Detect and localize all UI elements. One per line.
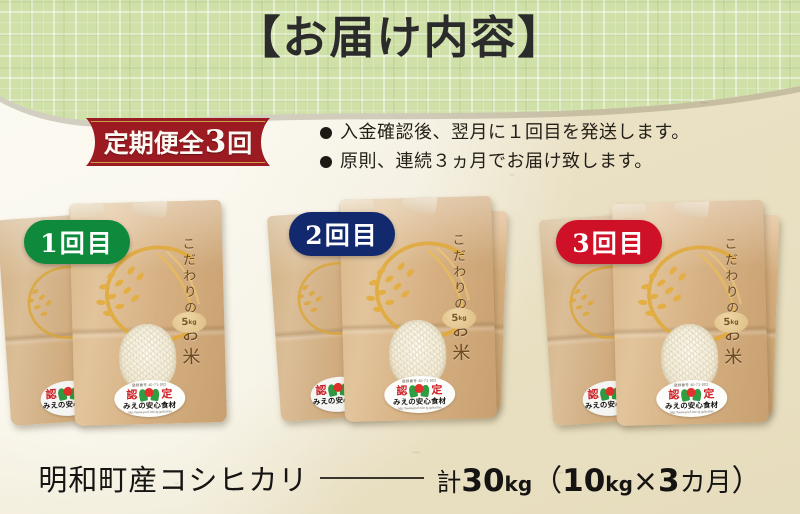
- note-text: 原則、連続３ヵ月でお届け致します。: [340, 147, 653, 176]
- note-text: 入金確認後、翌月に１回目を発送します。: [340, 118, 690, 147]
- note-item: 入金確認後、翌月に１回目を発送します。: [320, 118, 740, 147]
- bullet-dot-icon: [320, 156, 332, 168]
- note-item: 原則、連続３ヵ月でお届け致します。: [320, 147, 740, 176]
- seal-kanji-left: 認: [587, 389, 599, 401]
- subscription-ribbon-badge: 定期便全3回: [86, 118, 270, 166]
- bag-brand-text: こだわりの お米: [715, 236, 744, 370]
- caption-divider: [320, 477, 424, 479]
- per-shipment-unit: kg: [605, 472, 633, 496]
- total-value: 30: [461, 463, 504, 499]
- total-amount-text: 計30kg（10kg×3カ月）: [436, 456, 761, 500]
- seal-url: http://www.pref.mie.lg.jp/anshin: [398, 405, 442, 410]
- certification-seal: 登録番号 40-71-002 認 定 みえの安心食材 http://www.pr…: [113, 379, 185, 419]
- weight-unit: kg: [188, 319, 196, 326]
- certification-seal: 登録番号 40-71-002 認 定 みえの安心食材 http://www.pr…: [655, 379, 727, 419]
- seal-kanji-left: 認: [45, 389, 57, 401]
- weight-unit: kg: [458, 315, 466, 322]
- delivery-badge-2: 2回目: [289, 212, 395, 256]
- page-title: 【お届け内容】: [0, 10, 800, 66]
- seal-middle-row: 認 定: [668, 387, 714, 401]
- bullet-dot-icon: [320, 127, 332, 139]
- seal-middle-row: 認 定: [126, 387, 172, 401]
- delivery-badge-1: 1回目: [24, 220, 130, 264]
- bag-brand-text: こだわりの お米: [173, 236, 202, 370]
- months-unit: カ月: [680, 462, 732, 499]
- delivery-badge-3: 3回目: [556, 220, 662, 264]
- footer-caption: 明和町産コシヒカリ 計30kg（10kg×3カ月）: [0, 454, 800, 502]
- bag-brand-line1: こだわりの: [721, 236, 738, 316]
- times-symbol: ×: [633, 464, 658, 499]
- ribbon-prefix: 定期便全: [104, 124, 204, 160]
- paren-close: ）: [732, 456, 762, 500]
- delivery-info-graphic: 【お届け内容】 定期便全3回 入金確認後、翌月に１回目を発送します。 原則、連続…: [0, 0, 800, 514]
- vegetable-logo-icon: [409, 384, 429, 398]
- notes-list: 入金確認後、翌月に１回目を発送します。 原則、連続３ヵ月でお届け致します。: [320, 118, 740, 176]
- seal-middle-row: 認 定: [396, 383, 442, 397]
- vegetable-logo-icon: [139, 388, 159, 402]
- bag-brand-line1: こだわりの: [449, 232, 466, 312]
- product-name: 明和町産コシヒカリ: [38, 457, 308, 499]
- seal-kanji-left: 認: [315, 385, 327, 397]
- bag-brand-text: こだわりの お米: [443, 232, 472, 366]
- certification-seal: 登録番号 40-71-002 認 定 みえの安心食材 http://www.pr…: [383, 375, 455, 415]
- seal-kanji-left: 認: [126, 389, 137, 400]
- bag-brand-line1: こだわりの: [179, 236, 196, 316]
- total-label: 計: [436, 463, 461, 499]
- seal-url: http://www.pref.mie.lg.jp/anshin: [670, 409, 714, 414]
- seal-url: http://www.pref.mie.lg.jp/anshin: [128, 409, 172, 414]
- total-unit: kg: [505, 472, 533, 496]
- per-shipment-value: 10: [562, 463, 605, 499]
- paren-open: （: [532, 456, 562, 500]
- seal-kanji-left: 認: [396, 385, 407, 396]
- ribbon-label: 定期便全3回: [86, 118, 270, 166]
- seal-kanji-right: 定: [703, 388, 714, 399]
- seal-kanji-right: 定: [161, 388, 172, 399]
- ribbon-suffix: 回: [227, 124, 252, 160]
- vegetable-logo-icon: [681, 388, 701, 402]
- seal-kanji-right: 定: [431, 384, 442, 395]
- weight-unit: kg: [730, 319, 738, 326]
- months-value: 3: [658, 463, 680, 499]
- ribbon-count: 3: [204, 124, 228, 160]
- seal-kanji-left: 認: [668, 389, 679, 400]
